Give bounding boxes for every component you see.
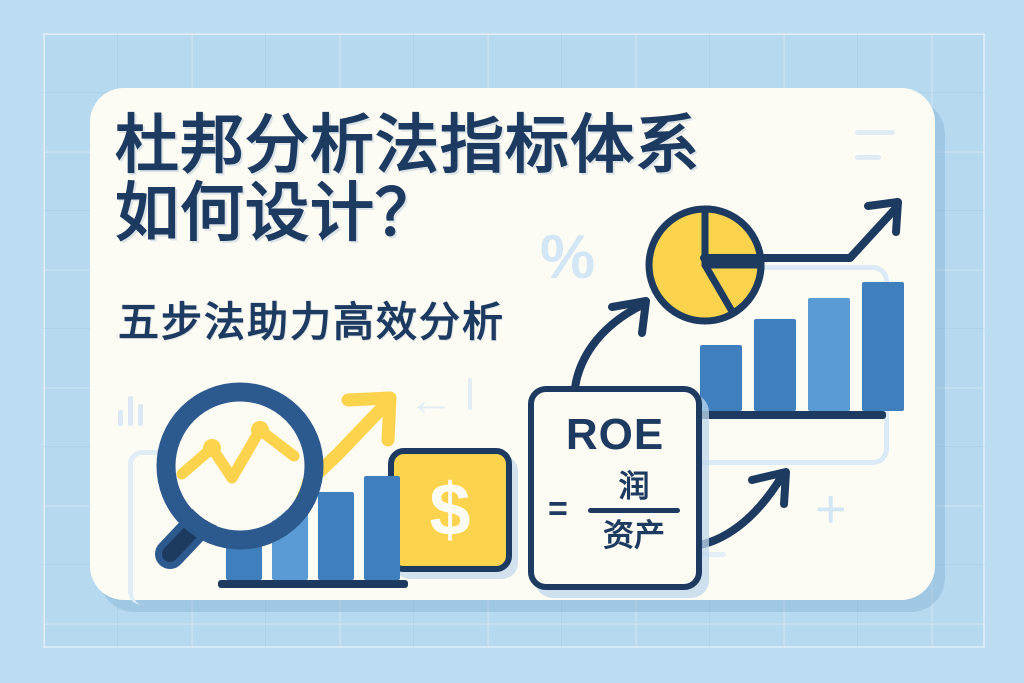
roe-denominator: 资产 [588, 519, 680, 553]
roe-label: ROE [534, 410, 696, 460]
fraction-bar [588, 508, 680, 513]
mini-bars-icon [118, 392, 148, 426]
roe-numerator: 润 [588, 470, 680, 504]
rule-mark-b [855, 155, 881, 160]
roe-fraction: 润 资产 [588, 470, 680, 553]
long-arrow-icon [700, 190, 910, 270]
dollar-icon: $ [429, 473, 470, 547]
curved-arrow-icon-lower [690, 450, 820, 560]
bar-chart-icon-right [690, 270, 880, 425]
poster-canvas: 杜邦分析法指标体系 如何设计？ 五步法助力高效分析 % ← + [0, 0, 1024, 683]
rule-mark-a [855, 130, 895, 135]
title-line-1: 杜邦分析法指标体系 [115, 112, 875, 180]
arrow-left-icon: ← [408, 372, 454, 426]
divider-tick [468, 378, 472, 410]
roe-formula-card[interactable]: ROE = 润 资产 [528, 386, 702, 590]
magnifier-icon [148, 378, 338, 578]
page-subtitle: 五步法助力高效分析 [118, 288, 505, 348]
roe-equals: = [548, 490, 568, 529]
